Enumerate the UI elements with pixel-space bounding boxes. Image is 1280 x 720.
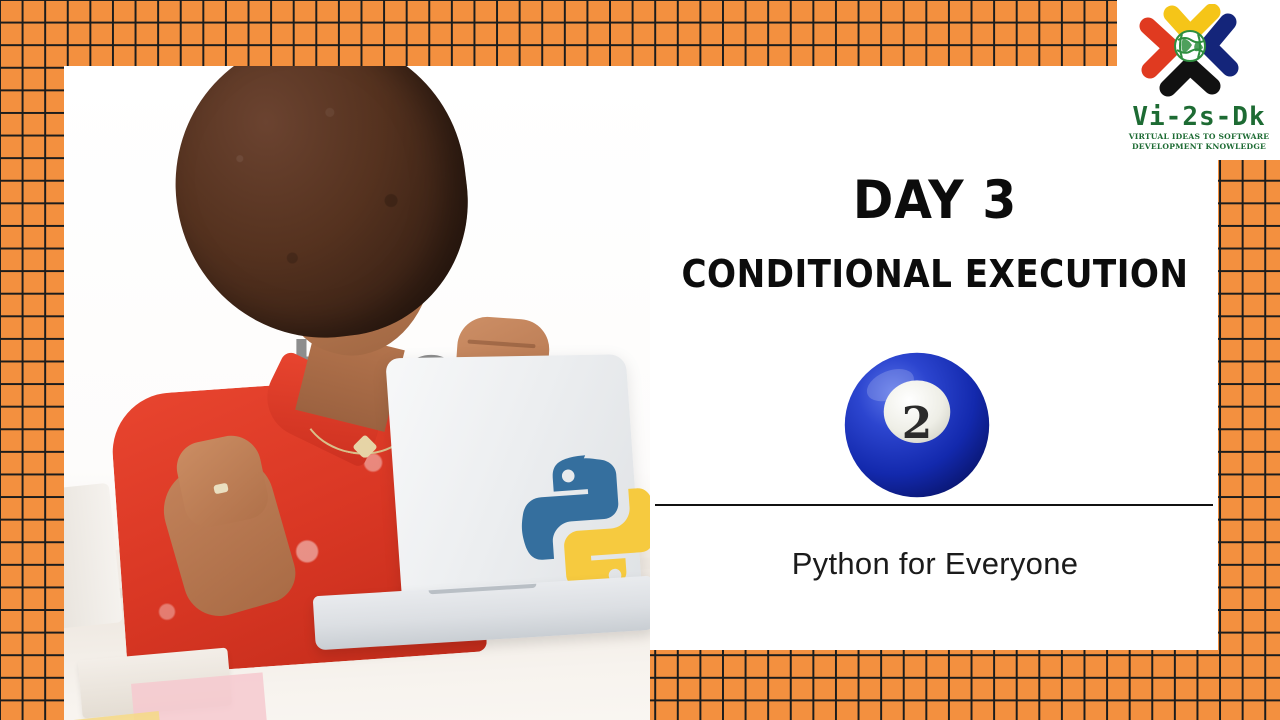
chevron-red-icon [1148,26,1172,70]
panel-divider [655,504,1213,506]
page-title-day: DAY 3 [677,170,1192,231]
logo-tagline-line1: VIRTUAL IDEAS TO SOFTWARE [1116,132,1280,141]
page-subtitle-topic: CONDITIONAL EXECUTION [679,252,1192,296]
billiard-ball-icon: 2 [841,349,993,501]
chevron-black-icon [1168,66,1212,88]
logo-wordmark: Vi-2s-Dk [1116,102,1280,132]
globe-icon [1175,31,1205,61]
brand-logo: Vi-2s-Dk VIRTUAL IDEAS TO SOFTWARE DEVEL… [1116,4,1280,164]
chevron-navy-icon [1208,22,1230,68]
logo-tagline-line2: DEVELOPMENT KNOWLEDGE [1116,142,1280,151]
slide-canvas: thon [0,0,1280,720]
course-subtitle: Python for Everyone [650,546,1220,582]
afro-hair [159,66,483,355]
hero-photo: thon [64,66,650,720]
ball-number: 2 [902,398,932,449]
